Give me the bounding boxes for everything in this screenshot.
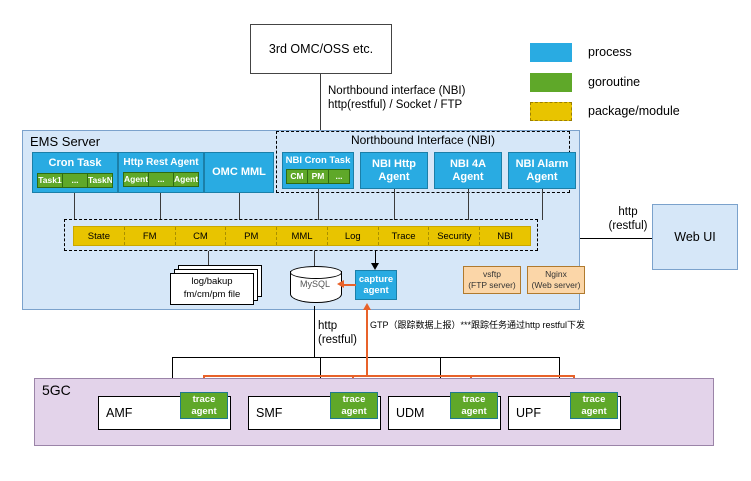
process-cron-task[interactable]: Cron Task Task1 ... TaskN <box>32 152 118 193</box>
package-nbi[interactable]: NBI <box>480 227 530 245</box>
package-fm[interactable]: FM <box>125 227 176 245</box>
connector-nbi-http-agent-to-packages <box>394 189 395 220</box>
goroutine-taskn: TaskN <box>88 173 113 188</box>
bus-gtp-horizontal <box>203 375 574 377</box>
capture-agent-box[interactable]: capture agent <box>355 270 397 300</box>
process-nbi-cron-task-title: NBI Cron Task <box>283 153 353 167</box>
server-vsftp[interactable]: vsftp (FTP server) <box>463 266 521 294</box>
trace-agent-upf-line1: trace <box>583 394 606 405</box>
legend: process goroutine package/module <box>530 40 745 120</box>
webui-link-label-line1: http <box>607 205 649 219</box>
connector-db-to-mysql <box>314 251 315 266</box>
legend-swatch-process <box>530 43 572 62</box>
goroutine-cm: CM <box>286 169 308 184</box>
legend-swatch-package-module <box>530 102 572 121</box>
connector-ems-to-webui <box>580 238 652 239</box>
ems-server-title: EMS Server <box>30 134 100 149</box>
connector-capture-agent-to-mysql <box>344 284 356 286</box>
process-nbi-http-agent-title: NBI Http Agent <box>361 158 427 183</box>
capture-agent-label-line2: agent <box>363 285 388 296</box>
server-nginx-line2: (Web server) <box>532 280 581 291</box>
process-nbi-alarm-agent-title: NBI Alarm Agent <box>509 158 575 183</box>
connector-nbi-4a-agent-to-packages <box>468 189 469 220</box>
trace-agent-udm-line1: trace <box>463 394 486 405</box>
external-omc-oss-label: 3rd OMC/OSS etc. <box>269 42 373 56</box>
connector-cron-task-to-packages <box>74 193 75 220</box>
gtp-note-label: GTP（跟踪数据上报）***跟踪任务通过http restful下发 <box>370 320 585 332</box>
goroutine-nbi-ellipsis: ... <box>329 169 350 184</box>
process-nbi-http-agent[interactable]: NBI Http Agent <box>360 152 428 189</box>
process-omc-mml[interactable]: OMC MML <box>204 152 274 193</box>
trace-agent-amf-line1: trace <box>193 394 216 405</box>
nf-smf-label: SMF <box>256 406 282 420</box>
trace-agent-amf[interactable]: trace agent <box>180 392 228 419</box>
legend-swatch-goroutine <box>530 73 572 92</box>
process-nbi-4a-agent-title: NBI 4A Agent <box>435 158 501 183</box>
nf-upf-label: UPF <box>516 406 541 420</box>
nf-amf-label: AMF <box>106 406 132 420</box>
connector-capture-agent-up <box>366 310 368 376</box>
package-log[interactable]: Log <box>328 227 379 245</box>
connector-omc-mml-to-packages <box>239 193 240 220</box>
nbi-vertical-connector <box>320 74 321 130</box>
goroutine-task1: Task1 <box>37 173 63 188</box>
goroutine-agent1: Agent1 <box>123 172 149 187</box>
webui-label: Web UI <box>674 230 715 244</box>
process-omc-mml-title: OMC MML <box>212 166 266 179</box>
trace-agent-udm[interactable]: trace agent <box>450 392 498 419</box>
server-vsftp-line2: (FTP server) <box>468 280 516 291</box>
goroutine-pm: PM <box>308 169 329 184</box>
process-http-rest-agent[interactable]: Http Rest Agent Agent1 ... AgentN <box>118 152 204 193</box>
legend-label-package-module: package/module <box>588 104 680 118</box>
process-http-rest-agent-title: Http Rest Agent <box>119 153 203 169</box>
external-omc-oss-box: 3rd OMC/OSS etc. <box>250 24 392 74</box>
legend-label-goroutine: goroutine <box>588 75 640 89</box>
trace-agent-upf[interactable]: trace agent <box>570 392 618 419</box>
package-trace[interactable]: Trace <box>379 227 430 245</box>
legend-label-process: process <box>588 45 632 59</box>
arrow-capture-agent-to-mysql <box>337 280 344 288</box>
capture-agent-label-line1: capture <box>359 274 393 285</box>
process-cron-task-title: Cron Task <box>33 153 117 170</box>
trace-agent-udm-line2: agent <box>461 406 486 417</box>
gc-title: 5GC <box>42 382 71 398</box>
package-cm[interactable]: CM <box>176 227 227 245</box>
file-stack-label-line2: fm/cm/pm file <box>170 289 254 302</box>
trace-agent-upf-line2: agent <box>581 406 606 417</box>
goroutine-agent-ellipsis: ... <box>149 172 174 187</box>
nbi-link-label-line2: http(restful) / Socket / FTP <box>328 98 462 112</box>
goroutine-row-nbi-cron-task: CM PM ... <box>286 169 350 184</box>
package-state[interactable]: State <box>74 227 125 245</box>
package-module-group: State FM CM PM MML Log Trace Security NB… <box>64 219 538 251</box>
nbi-link-label-line1: Northbound interface (NBI) <box>328 84 465 98</box>
server-vsftp-line1: vsftp <box>483 269 501 280</box>
goroutine-agentn: AgentN <box>174 172 199 187</box>
trace-agent-amf-line2: agent <box>191 406 216 417</box>
server-nginx-line1: Nginx <box>545 269 567 280</box>
mid-http-label-line1: http <box>318 319 337 333</box>
nf-udm-label: UDM <box>396 406 424 420</box>
nbi-group-title: Northbound Interface (NBI) <box>276 133 570 147</box>
webui-box[interactable]: Web UI <box>652 204 738 270</box>
mid-http-label-line2: (restful) <box>318 333 357 347</box>
file-stack-label-line1: log/bakup <box>170 276 254 289</box>
server-nginx[interactable]: Nginx (Web server) <box>527 266 585 294</box>
goroutine-task-ellipsis: ... <box>63 173 88 188</box>
package-module-bar: State FM CM PM MML Log Trace Security NB… <box>73 226 531 246</box>
trace-agent-smf[interactable]: trace agent <box>330 392 378 419</box>
arrow-trace-to-capture-agent <box>371 263 379 270</box>
process-nbi-cron-task[interactable]: NBI Cron Task CM PM ... <box>282 152 354 189</box>
webui-link-label-line2: (restful) <box>600 219 656 233</box>
goroutine-row-http-rest-agent: Agent1 ... AgentN <box>123 172 199 187</box>
arrow-gtp-to-capture-agent <box>363 303 371 310</box>
trace-agent-smf-line2: agent <box>341 406 366 417</box>
process-nbi-4a-agent[interactable]: NBI 4A Agent <box>434 152 502 189</box>
package-pm[interactable]: PM <box>226 227 277 245</box>
goroutine-row-cron-task: Task1 ... TaskN <box>37 173 113 188</box>
process-nbi-alarm-agent[interactable]: NBI Alarm Agent <box>508 152 576 189</box>
package-security[interactable]: Security <box>429 227 480 245</box>
connector-nbi-alarm-agent-to-packages <box>542 189 543 220</box>
connector-mysql-down <box>314 306 315 358</box>
trace-agent-smf-line1: trace <box>343 394 366 405</box>
database-cylinder-top <box>290 266 342 279</box>
package-mml[interactable]: MML <box>277 227 328 245</box>
database-mysql: MySQL <box>290 266 340 306</box>
database-label: MySQL <box>290 279 340 289</box>
connector-nbi-cron-task-to-packages <box>318 189 319 220</box>
connector-http-rest-agent-to-packages <box>160 193 161 220</box>
